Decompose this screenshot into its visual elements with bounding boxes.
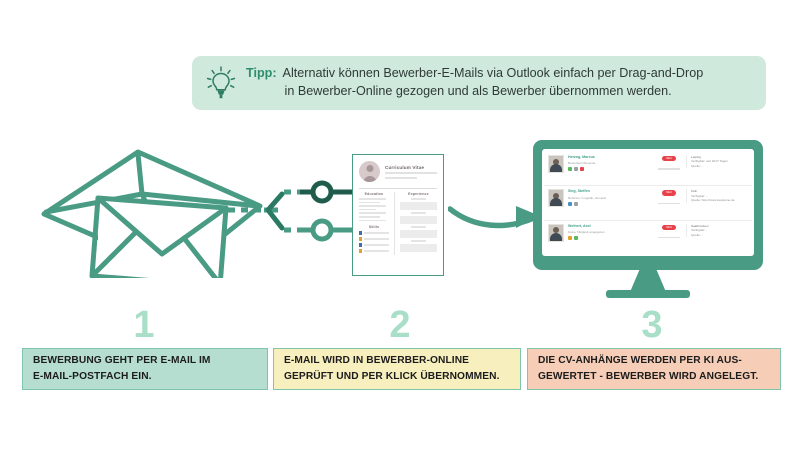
candidate-action-icons[interactable]: [568, 236, 649, 240]
caption-line-2: GEWERTET - BEWERBER WIRD ANGELEGT.: [538, 369, 770, 385]
candidate-name: Herzog, Marcus: [568, 155, 649, 160]
document-icon[interactable]: [574, 202, 578, 206]
cv-line: [411, 226, 426, 228]
candidate-row[interactable]: Weihert, Axel Keine Tätigkeit angegeben …: [544, 221, 752, 254]
caption-line-2: GEPRÜFT UND PER KLICK ÜBERNOMMEN.: [284, 369, 510, 385]
monitor-icon: Herzog, Marcus Bewerbern/Neueste NEU: [533, 140, 763, 308]
caption-line-1: BEWERBUNG GEHT PER E-MAIL IM: [33, 353, 257, 369]
status-badge: NEU: [662, 190, 675, 195]
cv-avatar-icon: [359, 161, 380, 182]
candidate-name: Sieg, Steffen: [568, 189, 649, 194]
cv-line: [411, 212, 426, 214]
info-icon[interactable]: [568, 202, 572, 206]
cv-skills-heading: Skills: [359, 225, 389, 229]
candidate-subtitle: Bewerbern/Neueste: [568, 161, 649, 165]
step-caption-1: BEWERBUNG GEHT PER E-MAIL IM E-MAIL-POST…: [22, 348, 268, 390]
pdf-icon[interactable]: [580, 167, 584, 171]
step-number-1: 1: [114, 306, 174, 344]
cv-header: Curriculum Vitae: [359, 161, 437, 186]
monitor-bezel: Herzog, Marcus Bewerbern/Neueste NEU: [533, 140, 763, 270]
connector-node-top: [313, 183, 331, 201]
candidate-subtitle: Referent / Logistik, Versand: [568, 196, 649, 200]
cv-line: [359, 216, 380, 218]
step-caption-3: DIE CV-ANHÄNGE WERDEN PER KI AUS- GEWERT…: [527, 348, 781, 390]
cv-skill-item: [359, 231, 389, 235]
cv-divider: [359, 188, 437, 189]
candidate-status: NEU: [652, 189, 686, 204]
cv-line: [359, 205, 386, 207]
skill-bar-icon: [359, 243, 362, 247]
candidate-main: Sieg, Steffen Referent / Logistik, Versa…: [568, 189, 652, 205]
cv-skill-item: [359, 243, 389, 247]
cv-line: [411, 240, 426, 242]
cv-line: [359, 220, 386, 222]
step-number-3: 3: [622, 306, 682, 344]
candidate-row[interactable]: Herzog, Marcus Bewerbern/Neueste NEU: [544, 152, 752, 186]
candidate-details: Köln Verfügbar: - Quelle: http://www.ste…: [686, 189, 749, 202]
cv-columns: Education Skills: [359, 192, 437, 255]
status-badge: NEU: [662, 225, 675, 230]
status-badge: NEU: [662, 156, 675, 161]
cv-skill-item: [359, 237, 389, 241]
check-icon[interactable]: [574, 236, 578, 240]
candidate-details: Leipzig Verfügbar: seit 2017 Tagen Quell…: [686, 155, 749, 168]
candidate-action-icons[interactable]: [568, 167, 649, 171]
skill-bar-icon: [359, 249, 362, 253]
infographic-canvas: Tipp: Alternativ können Bewerber-E-Mails…: [0, 0, 793, 450]
candidate-source: Quelle: http://www.stepstone.de: [691, 198, 749, 202]
candidate-action-icons[interactable]: [568, 202, 649, 206]
caption-line-1: DIE CV-ANHÄNGE WERDEN PER KI AUS-: [538, 353, 770, 369]
cv-document: Curriculum Vitae Education Skills: [352, 154, 444, 276]
cv-experience-heading: Experience: [400, 192, 437, 196]
caption-line-2: E-MAIL-POSTFACH EIN.: [33, 369, 257, 385]
candidate-main: Weihert, Axel Keine Tätigkeit angegeben: [568, 224, 652, 240]
candidate-details: Saarbrücken Verfügbar: - Quelle: -: [686, 224, 749, 237]
tip-message: Alternativ können Bewerber-E-Mails via O…: [283, 65, 704, 101]
monitor-base: [606, 290, 690, 298]
cv-right-column: Experience: [394, 192, 437, 255]
tip-text: Tipp: Alternativ können Bewerber-E-Mails…: [246, 65, 703, 101]
cv-education-heading: Education: [359, 192, 389, 196]
candidate-photo-icon: [548, 189, 564, 207]
tip-line-2: in Bewerber-Online gezogen und als Bewer…: [283, 83, 704, 101]
cv-line: [359, 202, 380, 204]
caption-line-1: E-MAIL WIRD IN BEWERBER-ONLINE: [284, 353, 510, 369]
cv-title-rule: [385, 172, 437, 174]
candidate-photo-icon: [548, 155, 564, 173]
candidate-subtitle: Keine Tätigkeit angegeben: [568, 230, 649, 234]
cv-block: [400, 216, 437, 224]
tip-line-1: Alternativ können Bewerber-E-Mails via O…: [283, 66, 704, 80]
skill-bar-icon: [359, 237, 362, 241]
cv-line: [359, 198, 386, 200]
cv-block: [400, 230, 437, 238]
candidate-name: Weihert, Axel: [568, 224, 649, 229]
candidate-row[interactable]: Sieg, Steffen Referent / Logistik, Versa…: [544, 186, 752, 220]
cv-title: Curriculum Vitae: [385, 165, 437, 170]
branching-connector-icon: [228, 168, 364, 252]
cv-title-rule-short: [385, 177, 417, 179]
cv-skills: Skills: [359, 225, 389, 253]
step-caption-2: E-MAIL WIRD IN BEWERBER-ONLINE GEPRÜFT U…: [273, 348, 521, 390]
candidate-source: Quelle: -: [691, 164, 749, 168]
monitor-neck: [630, 270, 666, 292]
warning-icon[interactable]: [568, 236, 572, 240]
candidate-main: Herzog, Marcus Bewerbern/Neueste: [568, 155, 652, 171]
candidate-photo-icon: [548, 224, 564, 242]
skill-bar-icon: [359, 231, 362, 235]
candidate-source: Quelle: -: [691, 233, 749, 237]
candidate-status: NEU: [652, 224, 686, 239]
cv-line: [359, 212, 386, 214]
document-icon[interactable]: [574, 167, 578, 171]
cv-title-block: Curriculum Vitae: [385, 165, 437, 179]
cv-left-column: Education Skills: [359, 192, 389, 255]
step-number-2: 2: [370, 306, 430, 344]
tip-banner: Tipp: Alternativ können Bewerber-E-Mails…: [192, 56, 766, 110]
check-icon[interactable]: [568, 167, 572, 171]
cv-line: [359, 209, 376, 211]
cv-block: [400, 244, 437, 252]
monitor-screen: Herzog, Marcus Bewerbern/Neueste NEU: [542, 149, 754, 256]
lightbulb-icon: [204, 64, 238, 102]
cv-line: [411, 198, 426, 200]
cv-skill-item: [359, 249, 389, 253]
connector-node-bottom: [313, 221, 331, 239]
cv-block: [400, 202, 437, 210]
tip-label: Tipp:: [246, 65, 277, 83]
candidate-status: NEU: [652, 155, 686, 170]
